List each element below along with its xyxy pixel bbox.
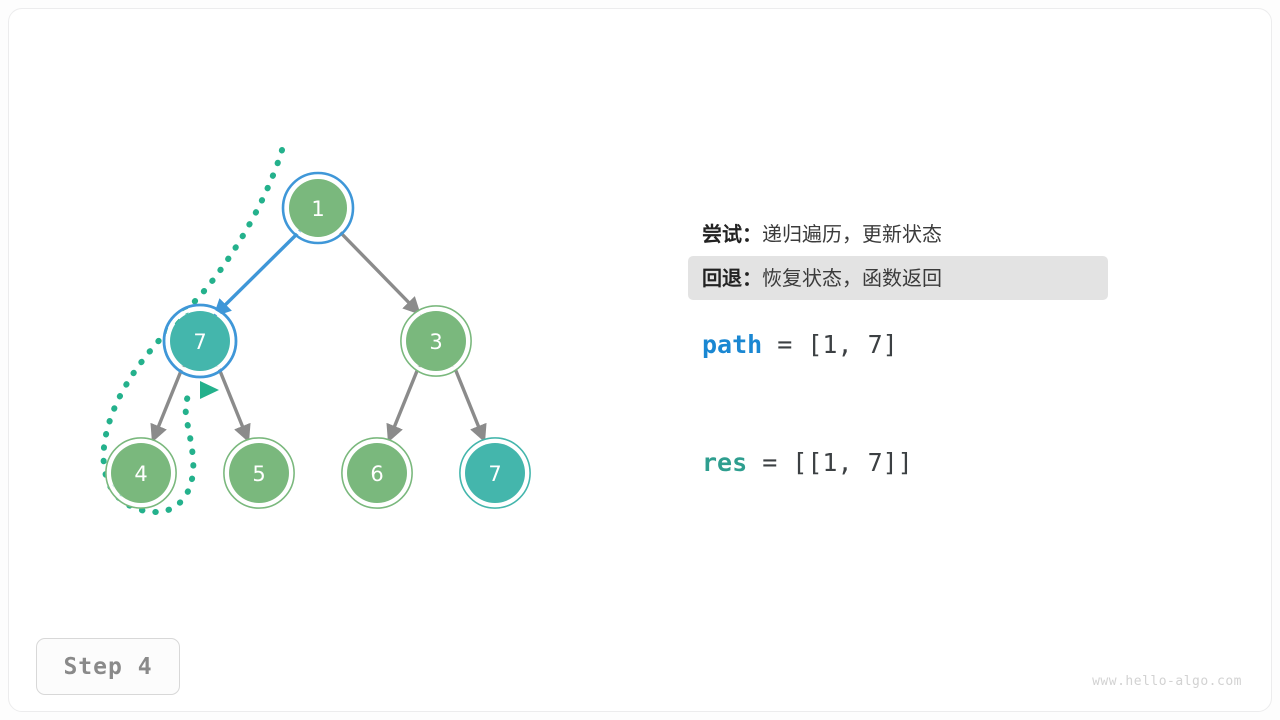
explanation-line-try-key: 尝试： xyxy=(702,222,762,246)
tree-node-7-left[interactable]: 7 xyxy=(164,305,236,377)
path-state-line: path = [1, 7] xyxy=(688,325,912,365)
edge-7left-5 xyxy=(218,366,248,440)
edge-3-6 xyxy=(389,366,419,440)
tree-node-1[interactable]: 1 xyxy=(283,173,353,243)
edge-3-7right xyxy=(454,366,484,440)
res-state-line: res = [[1, 7]] xyxy=(688,443,927,483)
tree-node-7-right-label: 7 xyxy=(488,462,501,486)
tree-node-5-label: 5 xyxy=(252,462,265,486)
explanation-line-backtrack: 回退：恢复状态，函数返回 xyxy=(688,256,1108,300)
explanation-line-try: 尝试：递归遍历，更新状态 xyxy=(688,212,1108,256)
tree-node-6[interactable]: 6 xyxy=(342,438,412,508)
tree-node-5[interactable]: 5 xyxy=(224,438,294,508)
tree-node-7-left-label: 7 xyxy=(193,330,206,354)
edge-7left-4 xyxy=(153,366,183,440)
trace-arrowhead xyxy=(200,381,219,399)
edge-1-7left xyxy=(215,231,300,315)
tree-node-1-label: 1 xyxy=(311,197,324,221)
explanation-line-backtrack-text: 恢复状态，函数返回 xyxy=(762,266,942,290)
tree-node-3[interactable]: 3 xyxy=(401,306,471,376)
watermark-text: www.hello-algo.com xyxy=(1092,674,1242,689)
tree-node-4-label: 4 xyxy=(134,462,147,486)
explanation-line-backtrack-key: 回退： xyxy=(702,266,762,290)
path-variable-name: path xyxy=(702,330,762,359)
watermark: www.hello-algo.com xyxy=(1092,674,1242,689)
illustration-canvas: 1 7 3 4 5 xyxy=(0,0,1280,720)
res-variable-name: res xyxy=(702,448,747,477)
step-badge: Step 4 xyxy=(36,638,180,695)
explanation-panel: 尝试：递归遍历，更新状态 回退：恢复状态，函数返回 xyxy=(688,212,1108,300)
res-variable-value: = [[1, 7]] xyxy=(747,448,913,477)
edge-1-3 xyxy=(339,231,419,313)
tree-node-6-label: 6 xyxy=(370,462,383,486)
tree-diagram: 1 7 3 4 5 xyxy=(0,0,1280,720)
step-badge-label: Step 4 xyxy=(63,654,152,680)
tree-node-4[interactable]: 4 xyxy=(106,438,176,508)
tree-node-7-right[interactable]: 7 xyxy=(460,438,530,508)
explanation-line-try-text: 递归遍历，更新状态 xyxy=(762,222,942,246)
path-variable-value: = [1, 7] xyxy=(762,330,897,359)
tree-node-3-label: 3 xyxy=(429,330,442,354)
